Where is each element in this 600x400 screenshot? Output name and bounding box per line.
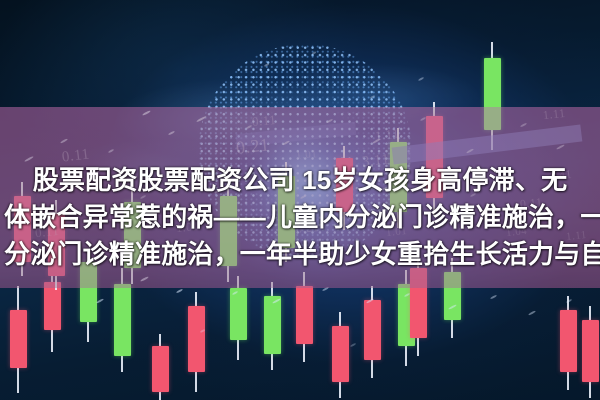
headline-line-3: 分泌门诊精准施治，一年半助少女重拾生长活力与自 xyxy=(4,236,596,273)
promo-banner: 0.110.210.111.113.110.551.011.111.410.11… xyxy=(0,0,600,400)
headline-block: 股票配资股票配资公司 15岁女孩身高停滞、无 体嵌合异常惹的祸——儿童内分泌门诊… xyxy=(0,162,600,273)
headline-line-1: 股票配资股票配资公司 15岁女孩身高停滞、无 xyxy=(4,162,596,199)
headline-line-2: 体嵌合异常惹的祸——儿童内分泌门诊精准施治，一年 xyxy=(4,199,596,236)
